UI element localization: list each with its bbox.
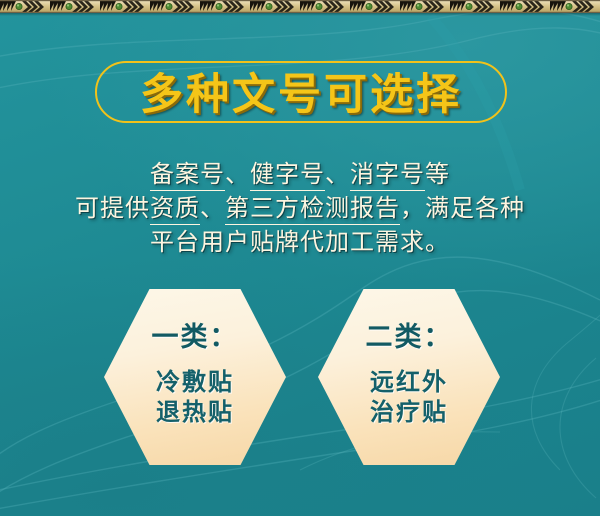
description-line-2: 可提供资质、第三方检测报告，满足各种: [0, 192, 600, 226]
title-banner-frame: 多种文号可选择: [95, 61, 507, 123]
description-line-3-segment-1: 平台用户贴牌代加工需求。: [150, 230, 450, 256]
description-line-1-segment-4: 、: [325, 162, 350, 188]
description-line-2-segment-1: 可提供: [75, 196, 150, 222]
description-line-2-segment-3: 、: [200, 196, 225, 222]
category-card-2-item-2: 治疗贴: [370, 398, 448, 428]
description-line-1-segment-2: 、: [225, 162, 250, 188]
description-line-1-segment-6: 等: [425, 162, 450, 188]
description-line-3: 平台用户贴牌代加工需求。: [0, 226, 600, 260]
description-line-2-segment-5: ，满足各种: [400, 196, 525, 222]
description-line-1-segment-3: 健字号: [250, 162, 325, 191]
description-line-2-segment-2: 资质: [150, 196, 200, 225]
border-drop-shadow: [0, 13, 600, 16]
description-line-2-segment-4: 第三方检测报告: [225, 196, 400, 225]
poster-canvas: 多种文号可选择 备案号、健字号、消字号等 可提供资质、第三方检测报告，满足各种 …: [0, 0, 600, 516]
page-title: 多种文号可选择: [97, 60, 505, 122]
description-block: 备案号、健字号、消字号等 可提供资质、第三方检测报告，满足各种 平台用户贴牌代加…: [0, 158, 600, 260]
category-card-1-item-2: 退热贴: [156, 398, 234, 428]
description-line-1: 备案号、健字号、消字号等: [0, 158, 600, 192]
category-card-1-title: 一类：: [152, 315, 239, 354]
category-card-2-item-1: 远红外: [370, 368, 448, 398]
category-card-2-title: 二类：: [366, 315, 453, 354]
ornamental-top-border: [0, 0, 600, 13]
description-line-1-segment-5: 消字号: [350, 162, 425, 191]
category-card-1-item-1: 冷敷贴: [156, 368, 234, 398]
description-line-1-segment-1: 备案号: [150, 162, 225, 191]
